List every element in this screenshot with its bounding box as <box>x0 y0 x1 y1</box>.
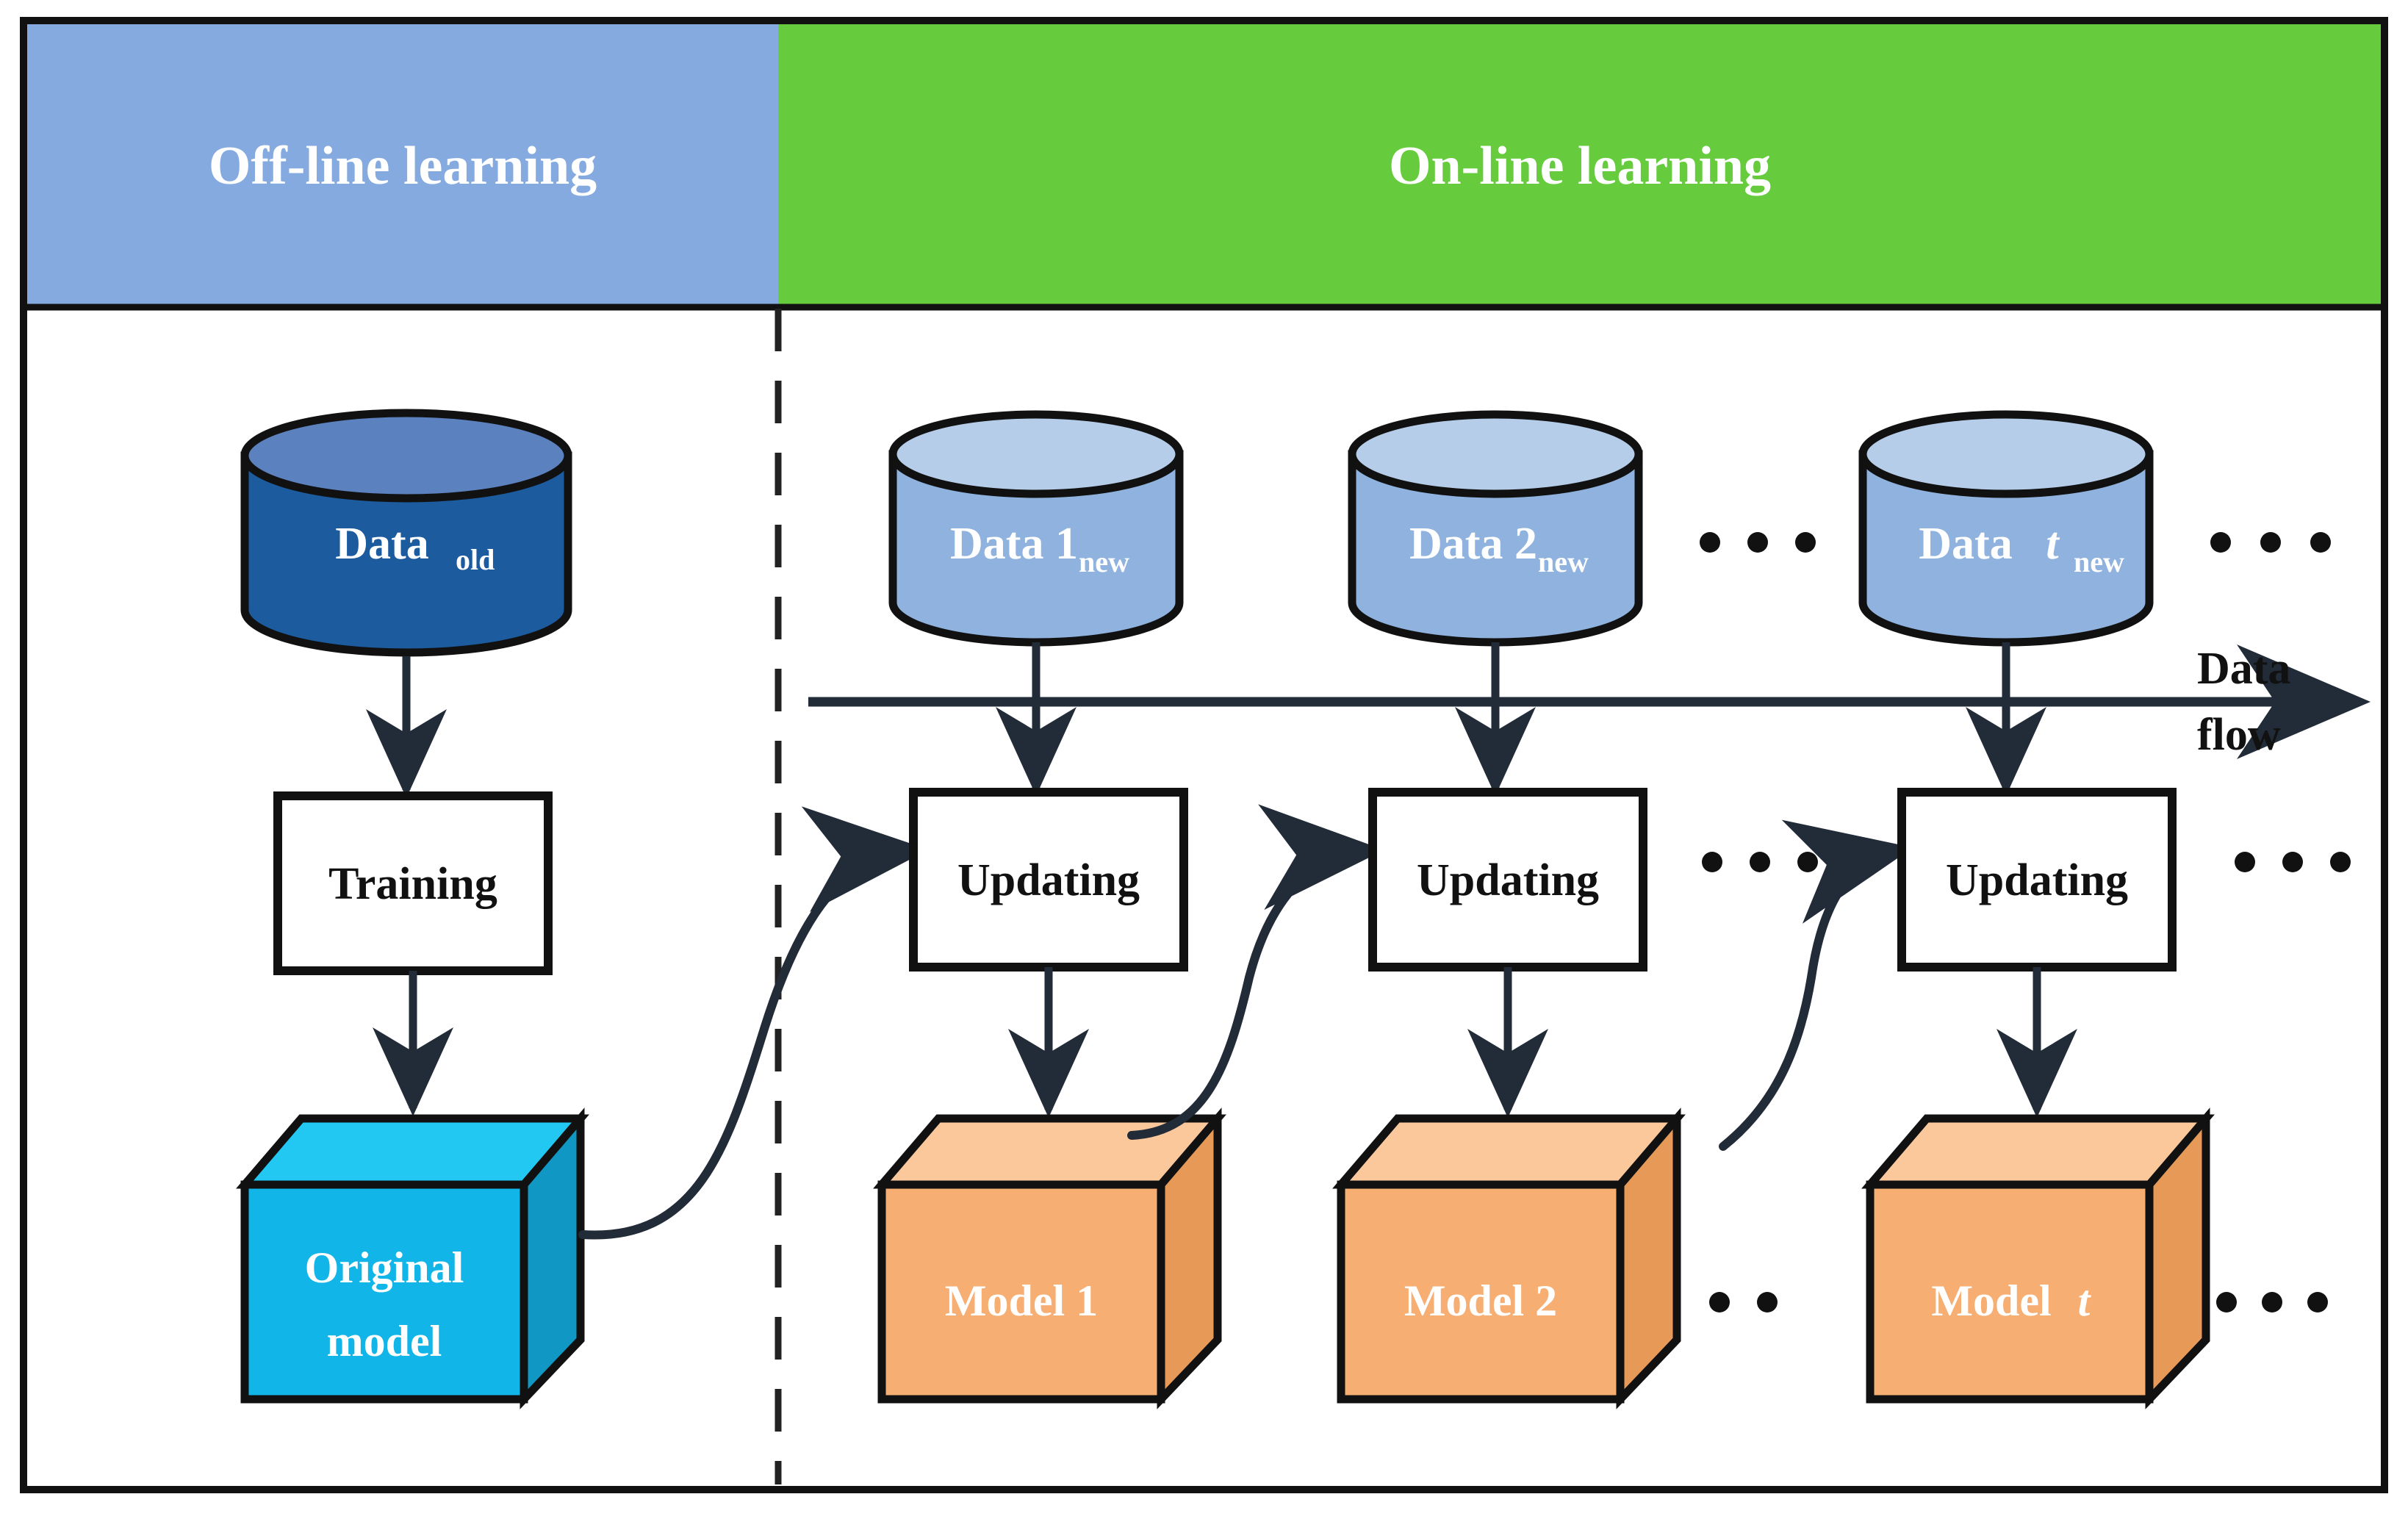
data-old-cylinder: Data old <box>245 413 568 653</box>
data-t-new-index: t <box>2046 519 2060 569</box>
updating-box-2-label: Updating <box>1417 855 1599 905</box>
model-t-index: t <box>2078 1276 2092 1325</box>
data-2-new-label: Data 2 <box>1409 519 1537 569</box>
ellipsis-updating-row-middle <box>1702 852 1818 872</box>
model-t-label: Model <box>1931 1276 2051 1325</box>
data-t-new-label: Data <box>1919 519 2012 569</box>
model-2-label: Model 2 <box>1404 1276 1557 1325</box>
data-2-new-subscript: new <box>1538 545 1589 578</box>
data-2-new-cylinder: Data 2 new <box>1352 414 1639 642</box>
ellipsis-data-row-middle <box>1700 532 1816 553</box>
original-model-cube: Original model <box>245 1118 581 1399</box>
model-t-cube: Model t <box>1870 1118 2206 1399</box>
data-1-new-cylinder: Data 1 new <box>893 414 1179 642</box>
online-header-label: On-line learning <box>1389 136 1771 196</box>
original-model-label-line1: Original <box>305 1243 464 1292</box>
data-flow-label-line1: Data <box>2197 644 2290 694</box>
training-box-label: Training <box>328 859 497 909</box>
online-learning-flowchart: Off-line learning On-line learning Data … <box>0 0 2408 1519</box>
updating-box-t: Updating <box>1902 792 2172 967</box>
data-flow-label-line2: flow <box>2197 710 2281 760</box>
offline-header-label: Off-line learning <box>209 136 597 196</box>
updating-box-2: Updating <box>1373 792 1643 967</box>
data-1-new-subscript: new <box>1079 545 1129 578</box>
model-2-cube: Model 2 <box>1341 1118 1677 1399</box>
original-model-label-line2: model <box>327 1317 442 1365</box>
data-1-new-label: Data 1 <box>950 519 1078 569</box>
data-t-new-cylinder: Data t new <box>1863 414 2149 642</box>
ellipsis-updating-row-trailing <box>2235 852 2351 872</box>
ellipsis-model-row-trailing <box>2216 1292 2328 1312</box>
data-t-new-subscript: new <box>2074 545 2124 578</box>
training-box: Training <box>278 796 548 971</box>
updating-box-t-label: Updating <box>1946 855 2128 905</box>
updating-box-1-label: Updating <box>957 855 1140 905</box>
updating-box-1: Updating <box>913 792 1184 967</box>
data-old-subscript: old <box>456 543 495 576</box>
model-1-label: Model 1 <box>945 1276 1098 1325</box>
data-old-label: Data <box>335 519 428 569</box>
model-1-cube: Model 1 <box>882 1118 1218 1399</box>
figure-canvas: Off-line learning On-line learning Data … <box>0 0 2408 1519</box>
